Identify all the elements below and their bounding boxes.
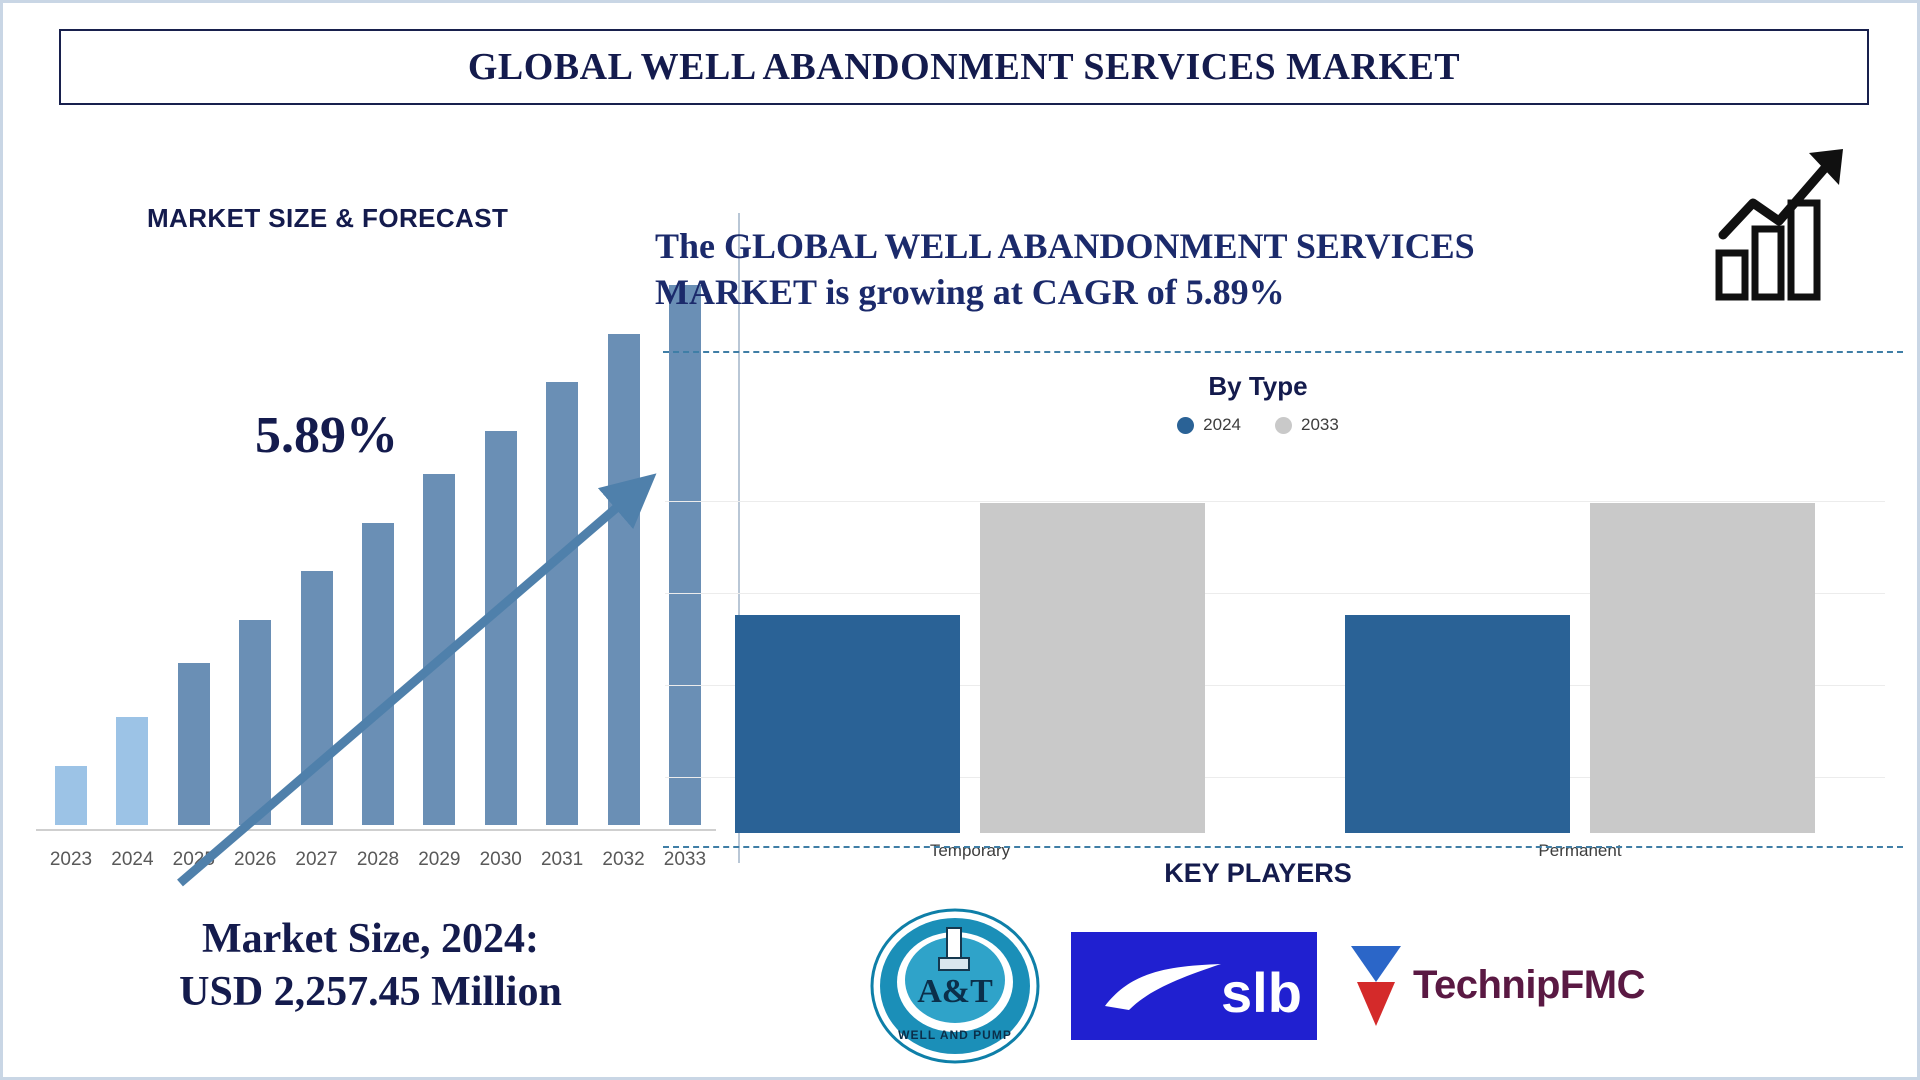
forecast-bar-label: 2026 bbox=[232, 849, 278, 871]
legend-item[interactable]: 2024 bbox=[1177, 415, 1241, 435]
infographic-page: GLOBAL WELL ABANDONMENT SERVICES MARKET … bbox=[0, 0, 1920, 1080]
forecast-bar-column bbox=[109, 285, 155, 825]
legend-color-dot bbox=[1275, 417, 1292, 434]
svg-text:WELL AND PUMP: WELL AND PUMP bbox=[898, 1028, 1012, 1042]
forecast-bar-label: 2027 bbox=[294, 849, 340, 871]
by-type-group: Temporary bbox=[700, 453, 1240, 833]
forecast-bar bbox=[55, 766, 87, 825]
by-type-bar bbox=[1590, 503, 1815, 833]
key-players-logos: A&T WELL AND PUMP slb TechnipFMC bbox=[643, 903, 1873, 1068]
divider-bottom bbox=[663, 846, 1903, 848]
by-type-title: By Type bbox=[643, 371, 1873, 402]
forecast-bar-column bbox=[478, 285, 524, 825]
legend-label: 2024 bbox=[1203, 415, 1241, 435]
at-well-and-pump-logo: A&T WELL AND PUMP bbox=[869, 906, 1041, 1066]
slb-logo: slb bbox=[1071, 932, 1317, 1040]
forecast-bar bbox=[362, 523, 394, 825]
cagr-statement: The GLOBAL WELL ABANDONMENT SERVICES MAR… bbox=[655, 223, 1695, 315]
forecast-bar-label: 2025 bbox=[171, 849, 217, 871]
forecast-bar-column bbox=[48, 285, 94, 825]
by-type-group: Permanent bbox=[1310, 453, 1850, 833]
cagr-statement-line-1: The GLOBAL WELL ABANDONMENT SERVICES bbox=[655, 223, 1695, 269]
forecast-bar bbox=[301, 571, 333, 825]
by-type-bar bbox=[735, 615, 960, 833]
legend-item[interactable]: 2033 bbox=[1275, 415, 1339, 435]
technipfmc-logo: TechnipFMC bbox=[1347, 938, 1647, 1034]
legend-label: 2033 bbox=[1301, 415, 1339, 435]
by-type-bar-chart: TemporaryPermanent bbox=[665, 453, 1885, 833]
forecast-bar-column bbox=[539, 285, 585, 825]
forecast-bar bbox=[178, 663, 210, 825]
by-type-panel: The GLOBAL WELL ABANDONMENT SERVICES MAR… bbox=[643, 113, 1893, 1073]
market-size-line-2: USD 2,257.45 Million bbox=[3, 966, 738, 1019]
forecast-bars-row bbox=[48, 285, 708, 825]
forecast-bar-column bbox=[232, 285, 278, 825]
forecast-bar-column bbox=[355, 285, 401, 825]
section-label-market-size-forecast: MARKET SIZE & FORECAST bbox=[147, 203, 508, 234]
forecast-bar bbox=[485, 431, 517, 825]
forecast-bar bbox=[546, 382, 578, 825]
by-type-legend: 20242033 bbox=[643, 415, 1873, 435]
market-size-forecast-panel: MARKET SIZE & FORECAST 5.89% 20232024202… bbox=[3, 113, 738, 1073]
svg-text:slb: slb bbox=[1221, 961, 1302, 1024]
forecast-bar-label: 2030 bbox=[478, 849, 524, 871]
forecast-bar-chart: 2023202420252026202720282029203020312032… bbox=[28, 253, 718, 963]
forecast-bar-label: 2024 bbox=[109, 849, 155, 871]
by-type-bar bbox=[980, 503, 1205, 833]
market-size-value: Market Size, 2024: USD 2,257.45 Million bbox=[3, 913, 738, 1018]
by-type-bar bbox=[1345, 615, 1570, 833]
forecast-bar-label: 2029 bbox=[416, 849, 462, 871]
forecast-bar-column bbox=[171, 285, 217, 825]
chart-axis-line bbox=[36, 829, 716, 831]
forecast-bar-label: 2028 bbox=[355, 849, 401, 871]
svg-text:A&T: A&T bbox=[917, 973, 993, 1010]
forecast-bar bbox=[116, 717, 148, 825]
legend-color-dot bbox=[1177, 417, 1194, 434]
growth-bar-arrow-icon bbox=[1713, 143, 1853, 303]
key-players-title: KEY PLAYERS bbox=[643, 858, 1873, 889]
by-type-groups: TemporaryPermanent bbox=[665, 453, 1885, 833]
forecast-bar-label: 2023 bbox=[48, 849, 94, 871]
page-title: GLOBAL WELL ABANDONMENT SERVICES MARKET bbox=[468, 45, 1460, 89]
forecast-bar-column bbox=[601, 285, 647, 825]
forecast-bar-column bbox=[294, 285, 340, 825]
forecast-bar-label: 2031 bbox=[539, 849, 585, 871]
forecast-bar-column bbox=[416, 285, 462, 825]
forecast-bar-label: 2032 bbox=[601, 849, 647, 871]
forecast-bar bbox=[608, 334, 640, 825]
forecast-bar bbox=[423, 474, 455, 825]
forecast-bar bbox=[239, 620, 271, 825]
market-size-line-1: Market Size, 2024: bbox=[3, 913, 738, 966]
technipfmc-logo-text: TechnipFMC bbox=[1413, 963, 1645, 1008]
cagr-statement-line-2: MARKET is growing at CAGR of 5.89% bbox=[655, 269, 1695, 315]
divider-top bbox=[663, 351, 1903, 353]
forecast-labels-row: 2023202420252026202720282029203020312032… bbox=[48, 849, 708, 871]
page-title-box: GLOBAL WELL ABANDONMENT SERVICES MARKET bbox=[59, 29, 1869, 105]
